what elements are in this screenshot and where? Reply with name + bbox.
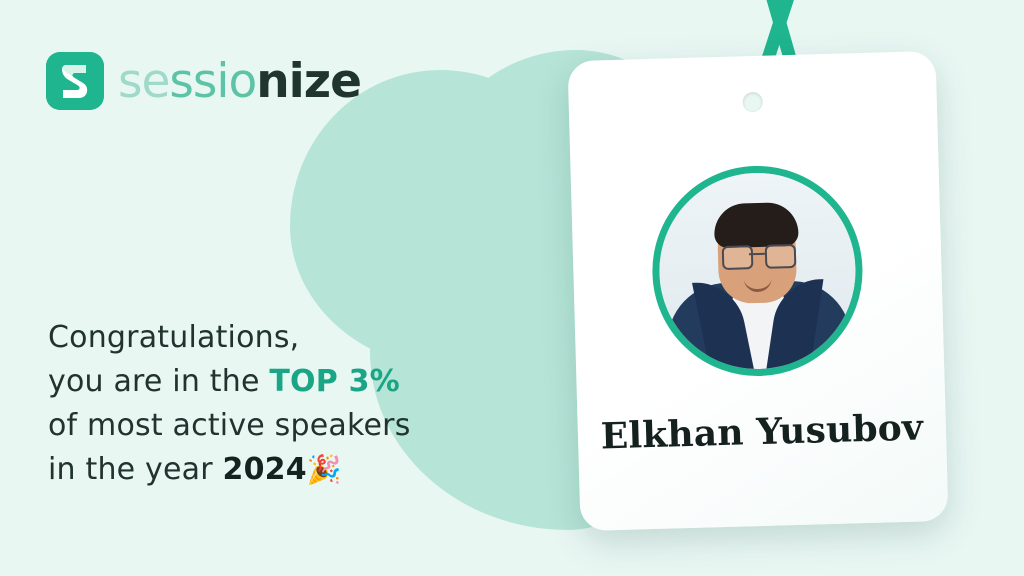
congratulations-message: Congratulations, you are in the TOP 3% o…	[48, 316, 568, 492]
year-value: 2024	[223, 452, 307, 487]
speaker-badge-card: Elkhan Yusubov	[568, 51, 949, 531]
message-line-4: in the year 2024🎉	[48, 448, 568, 492]
promo-image: sessionize Congratulations, you are in t…	[0, 0, 1024, 576]
avatar	[650, 163, 866, 379]
message-line-2: you are in the TOP 3%	[48, 360, 568, 404]
wordmark-part-dark: nize	[256, 54, 361, 109]
message-line-2-prefix: you are in the	[48, 364, 269, 399]
brand-logo: sessionize	[46, 52, 361, 110]
sessionize-logo-icon	[46, 52, 104, 110]
wordmark-part-mid: ssio	[169, 54, 256, 109]
badge-hole-icon	[742, 92, 763, 113]
top-percentage: TOP 3%	[269, 364, 400, 399]
speaker-name: Elkhan Yusubov	[577, 406, 946, 458]
wordmark-part-light: se	[118, 54, 169, 109]
message-line-1: Congratulations,	[48, 316, 568, 360]
brand-wordmark: sessionize	[118, 58, 361, 105]
party-popper-icon: 🎉	[307, 453, 342, 486]
message-line-3: of most active speakers	[48, 404, 568, 448]
message-line-4-prefix: in the year	[48, 452, 223, 487]
